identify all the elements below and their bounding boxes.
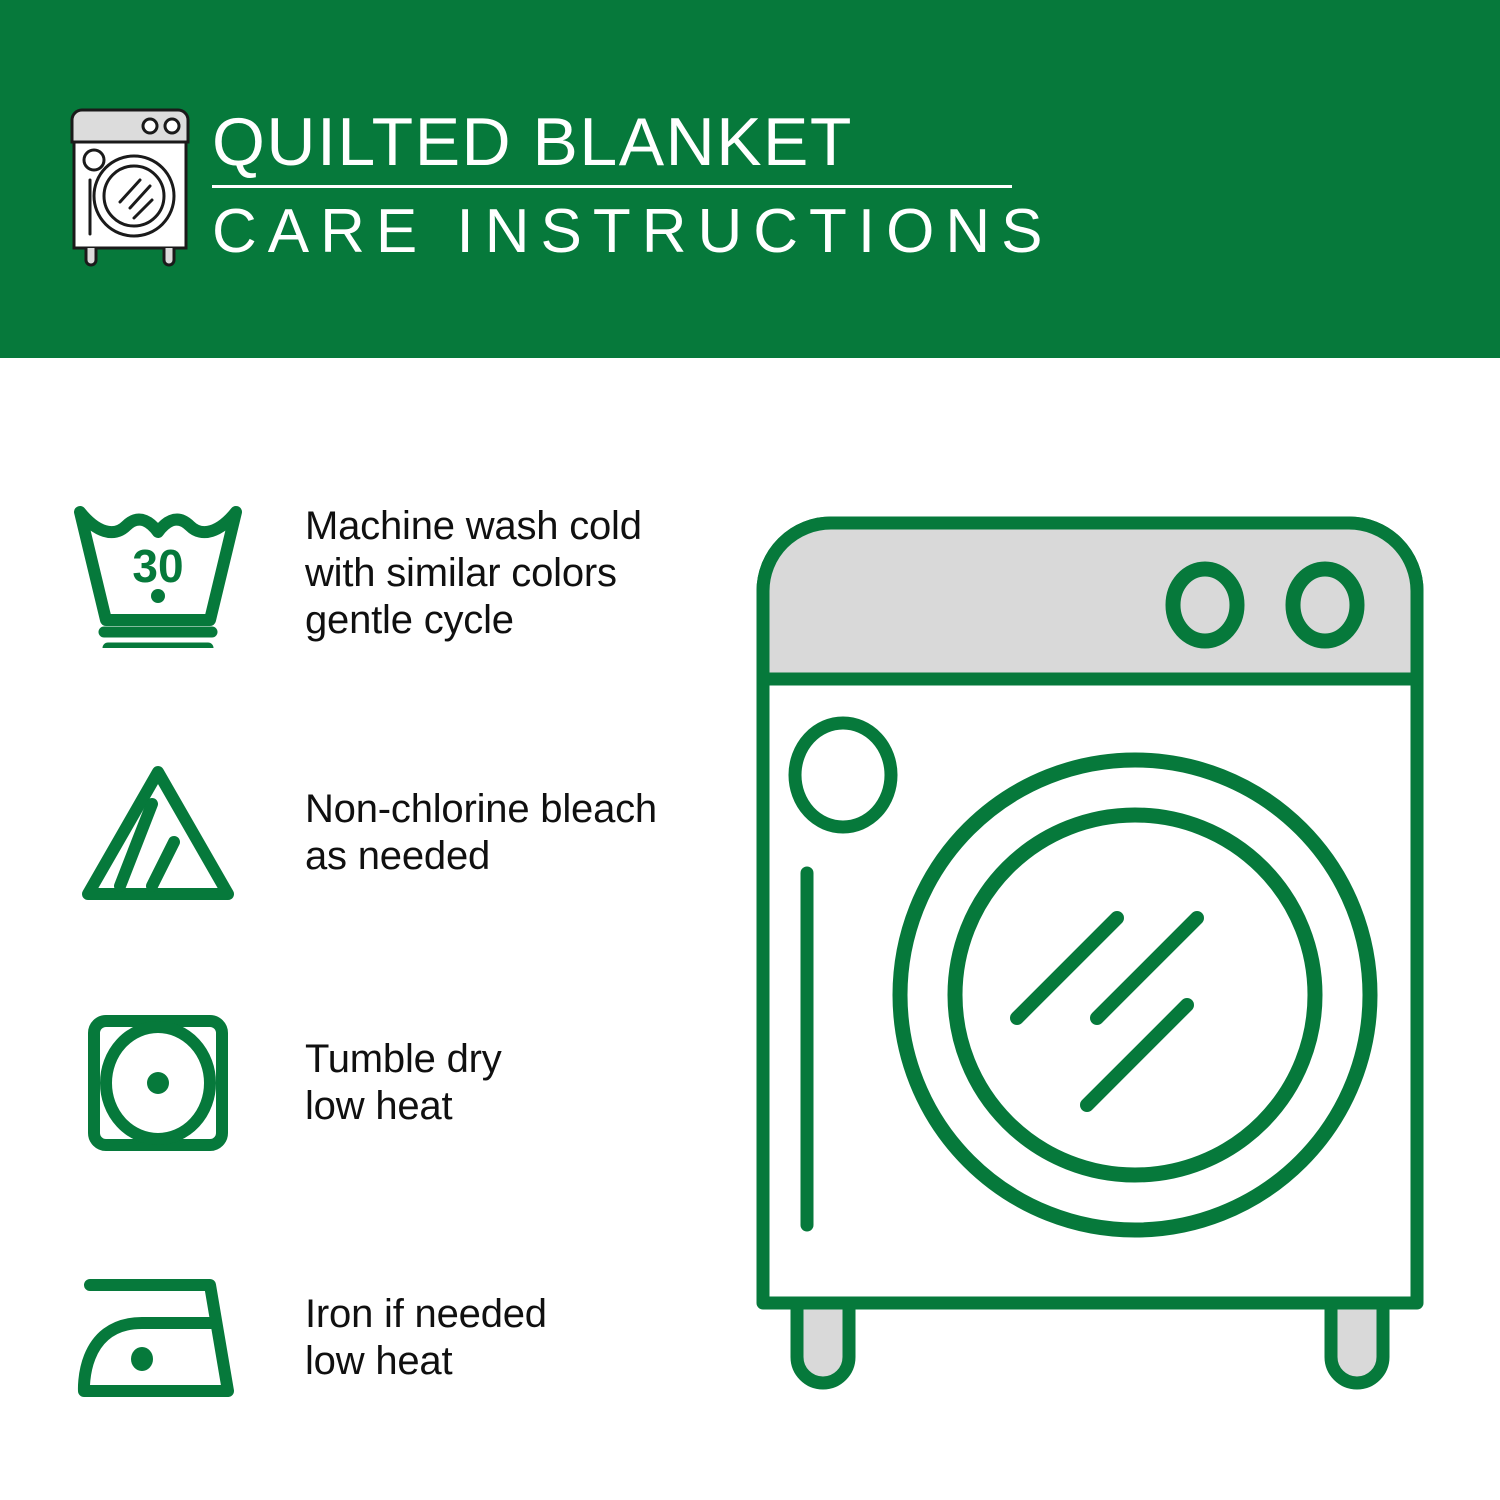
wash-temp-label: 30 (132, 540, 183, 592)
care-label-iron: Iron if needed low heat (305, 1291, 547, 1385)
care-label-machine-wash: Machine wash cold with similar colors ge… (305, 503, 642, 644)
page-title: QUILTED BLANKET (212, 103, 1032, 181)
care-line: with similar colors (305, 550, 642, 597)
page-subtitle: CARE INSTRUCTIONS (212, 194, 1032, 270)
machine-wash-30-icon: 30 (68, 498, 248, 648)
tumble-dry-low-icon (68, 1008, 248, 1158)
care-instructions-list: 30 Machine wash cold with similar colors… (0, 358, 740, 1500)
care-line: Iron if needed (305, 1291, 547, 1338)
washing-machine-icon (62, 104, 198, 268)
drum-inner-circle (955, 815, 1315, 1175)
care-line: Tumble dry (305, 1036, 502, 1083)
detergent-drawer-circle (795, 723, 891, 827)
care-line: low heat (305, 1338, 547, 1385)
care-label-bleach: Non-chlorine bleach as needed (305, 786, 657, 880)
care-instructions-page: QUILTED BLANKET CARE INSTRUCTIONS 30 (0, 0, 1500, 1500)
care-row-iron: Iron if needed low heat (0, 1263, 740, 1413)
non-chlorine-bleach-icon (68, 758, 248, 908)
care-line: as needed (305, 833, 657, 880)
care-row-tumble-dry: Tumble dry low heat (0, 1008, 740, 1158)
title-divider (212, 185, 1012, 188)
care-line: gentle cycle (305, 597, 642, 644)
knob-right (1293, 569, 1357, 641)
header-text-block: QUILTED BLANKET CARE INSTRUCTIONS (212, 103, 1032, 270)
care-line: low heat (305, 1083, 502, 1130)
care-row-machine-wash: 30 Machine wash cold with similar colors… (0, 498, 740, 648)
iron-low-heat-icon (68, 1263, 248, 1413)
knob-left (1173, 569, 1237, 641)
care-label-tumble-dry: Tumble dry low heat (305, 1036, 502, 1130)
care-row-bleach: Non-chlorine bleach as needed (0, 758, 740, 908)
washing-machine-illustration (745, 505, 1435, 1410)
header-banner: QUILTED BLANKET CARE INSTRUCTIONS (0, 0, 1500, 358)
care-line: Non-chlorine bleach (305, 786, 657, 833)
care-line: Machine wash cold (305, 503, 642, 550)
